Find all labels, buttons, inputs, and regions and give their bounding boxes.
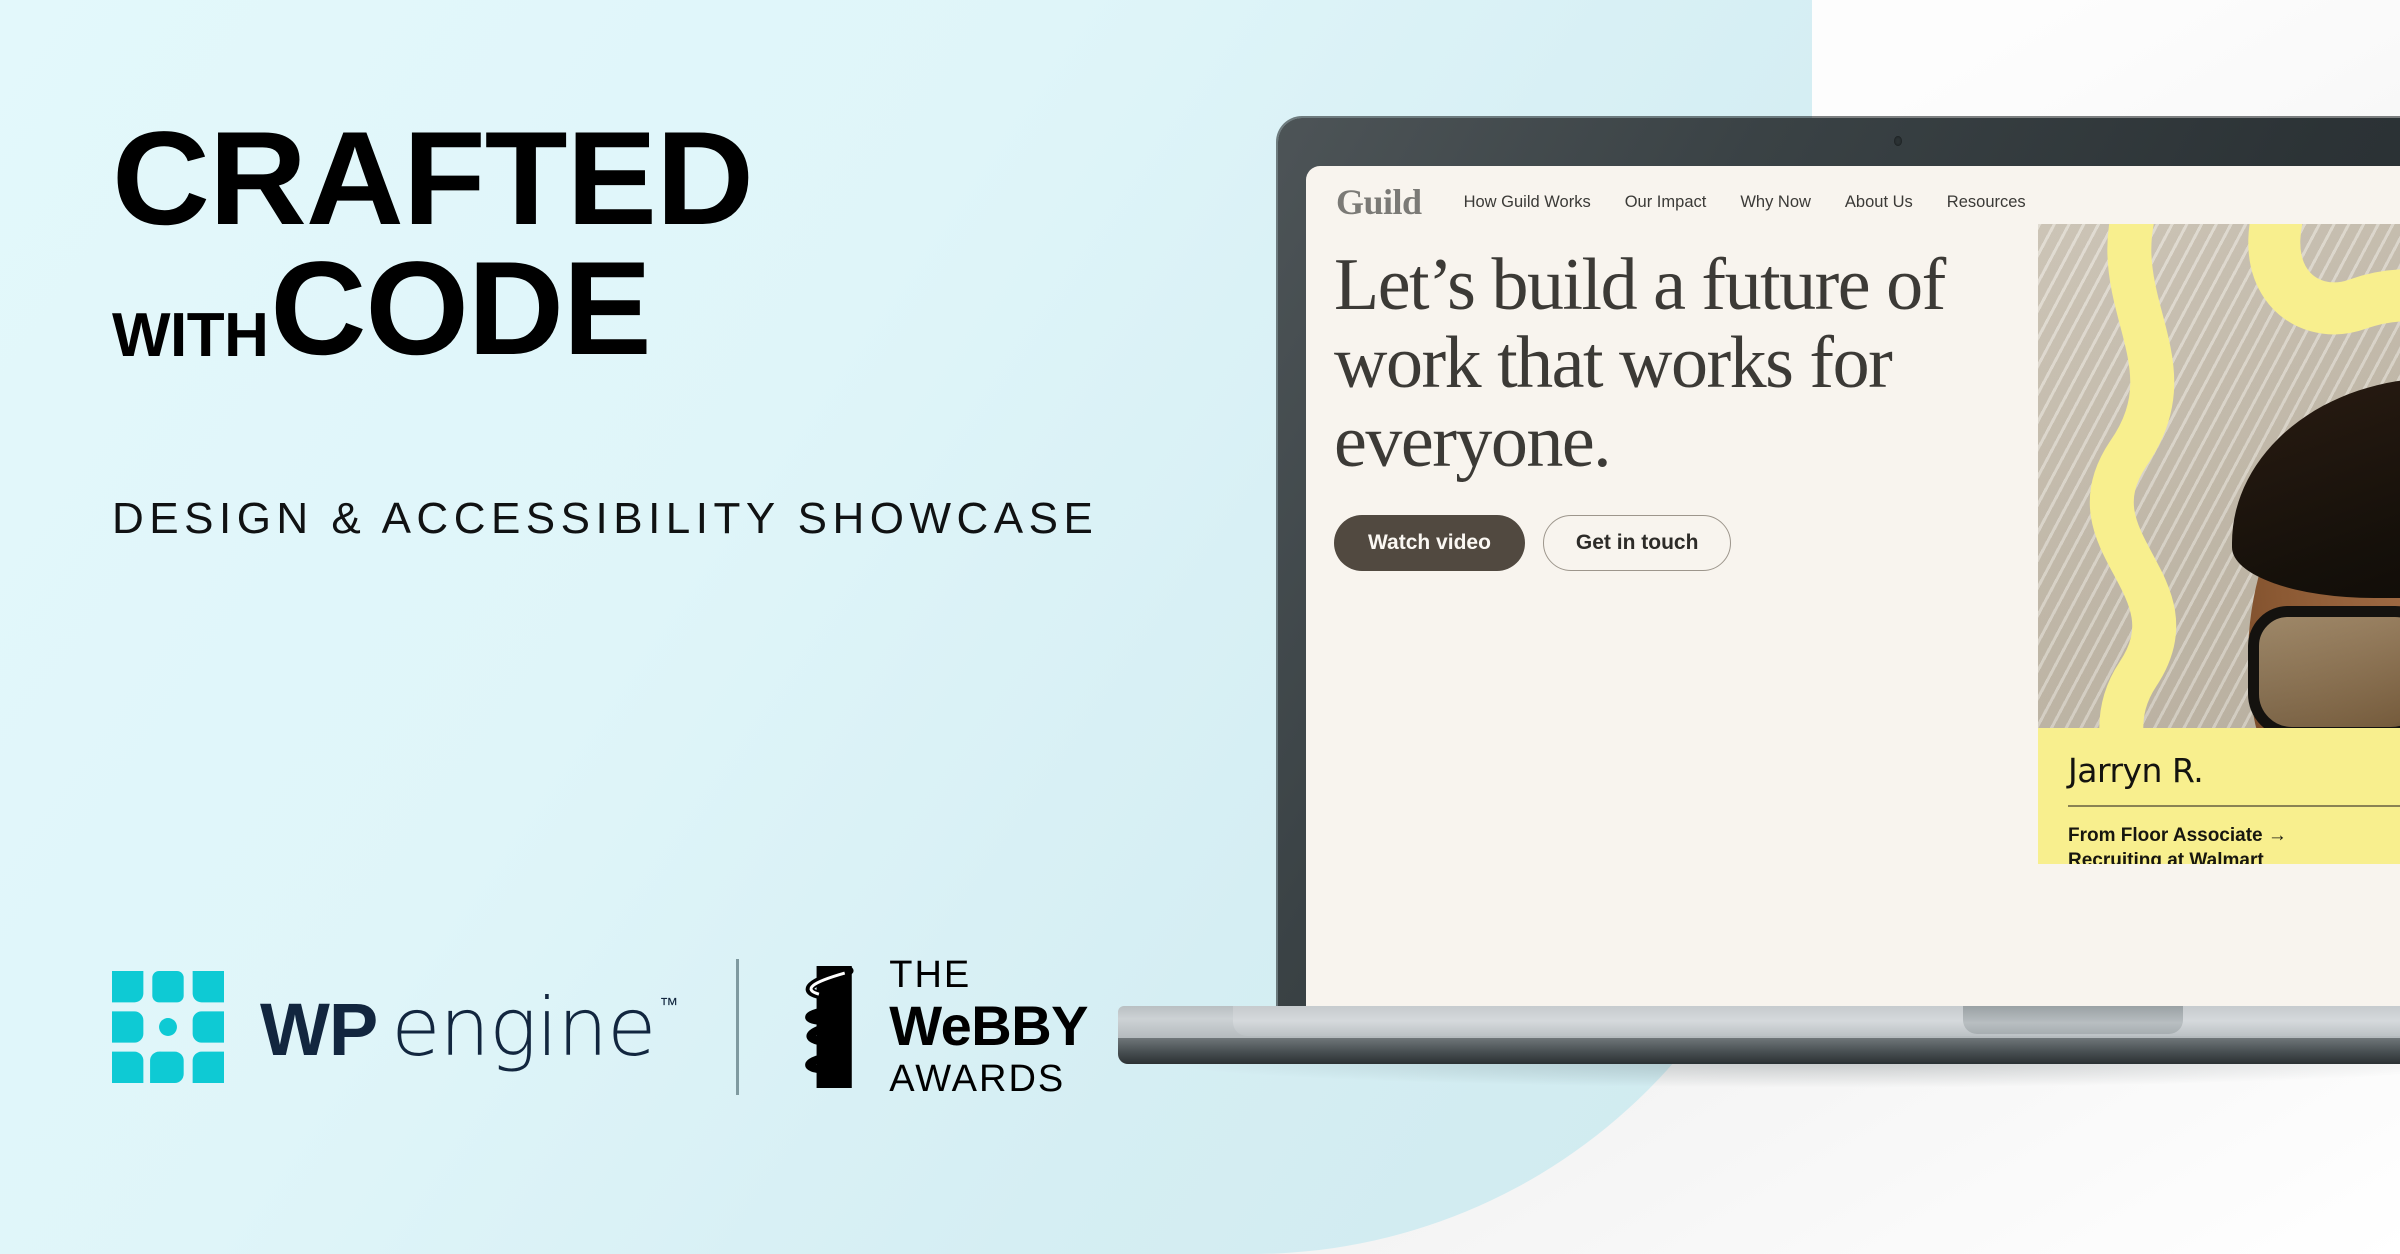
subtitle: DESIGN & ACCESSIBILITY SHOWCASE [112,494,1098,544]
testimonial-detail-line-1: From Floor Associate → [2068,823,2400,849]
promo-banner: CRAFTED WITH CODE DESIGN & ACCESSIBILITY… [0,0,2400,1254]
testimonial-name: Jarryn R. [2068,754,2400,787]
laptop-base-inner [1233,1006,2400,1036]
wp-engine-logo: WP engine ™ [112,971,674,1083]
get-in-touch-button[interactable]: Get in touch [1543,515,1732,571]
person-hair [2232,378,2400,598]
logo-row: WP engine ™ THE WeBBY AWARDS [112,952,1088,1102]
webby-spring-icon [797,966,869,1088]
nav-item-our-impact[interactable]: Our Impact [1625,193,1707,212]
testimonial-divider [2068,805,2400,807]
headline-word-with: WITH [112,305,268,371]
logo-divider [736,959,739,1095]
laptop-screen: Guild How Guild Works Our Impact Why Now… [1306,166,2400,1018]
testimonial-detail-line-2: Recruiting at Walmart [2068,848,2400,864]
site-navbar: Guild How Guild Works Our Impact Why Now… [1306,166,2400,220]
page-title: CRAFTED WITH CODE [112,118,1172,371]
trademark-symbol: ™ [659,995,678,1017]
webby-line-awards: AWARDS [889,1060,1088,1098]
webby-awards-logo: THE WeBBY AWARDS [797,956,1088,1098]
webby-line-webby: WeBBY [889,998,1088,1054]
headline-line-crafted: CRAFTED [112,118,1193,240]
person-glasses [2228,594,2400,724]
wp-engine-wordmark: WP engine ™ [260,981,674,1074]
nav-item-resources[interactable]: Resources [1947,193,2026,212]
glasses-left-lens [2248,606,2400,738]
guild-logo[interactable]: Guild [1336,184,1422,220]
hero-photo: Jarryn R. From Floor Associate → Recruit… [2038,224,2400,864]
webby-line-the: THE [889,956,1088,994]
headline-line-with-code: WITH CODE [112,248,1172,370]
left-content: CRAFTED WITH CODE DESIGN & ACCESSIBILITY… [0,0,1200,1254]
testimonial-card: Jarryn R. From Floor Associate → Recruit… [2038,728,2400,864]
nav-item-why-now[interactable]: Why Now [1740,193,1811,212]
webby-wordmark: THE WeBBY AWARDS [889,956,1088,1098]
watch-video-button[interactable]: Watch video [1334,515,1525,571]
laptop-base-notch [1963,1006,2183,1034]
nav-item-how-guild-works[interactable]: How Guild Works [1464,193,1591,212]
laptop-base-bottom [1118,1038,2400,1064]
laptop-mockup: Guild How Guild Works Our Impact Why Now… [1118,118,2400,1128]
headline-word-code: CODE [270,248,650,370]
nav-item-about-us[interactable]: About Us [1845,193,1913,212]
laptop-base [1118,1006,2400,1064]
hero-heading: Let’s build a future of work that works … [1334,246,1954,481]
wp-engine-grid-icon [112,971,224,1083]
laptop-lid: Guild How Guild Works Our Impact Why Now… [1278,118,2400,1018]
wp-engine-engine-text: engine [391,981,655,1074]
wp-engine-wp-text: WP [260,987,377,1072]
webcam-icon [1894,136,1902,146]
laptop-base-shadow [1158,1062,2400,1088]
laptop-base-top [1118,1006,2400,1040]
site-nav-links: How Guild Works Our Impact Why Now About… [1464,193,2060,212]
